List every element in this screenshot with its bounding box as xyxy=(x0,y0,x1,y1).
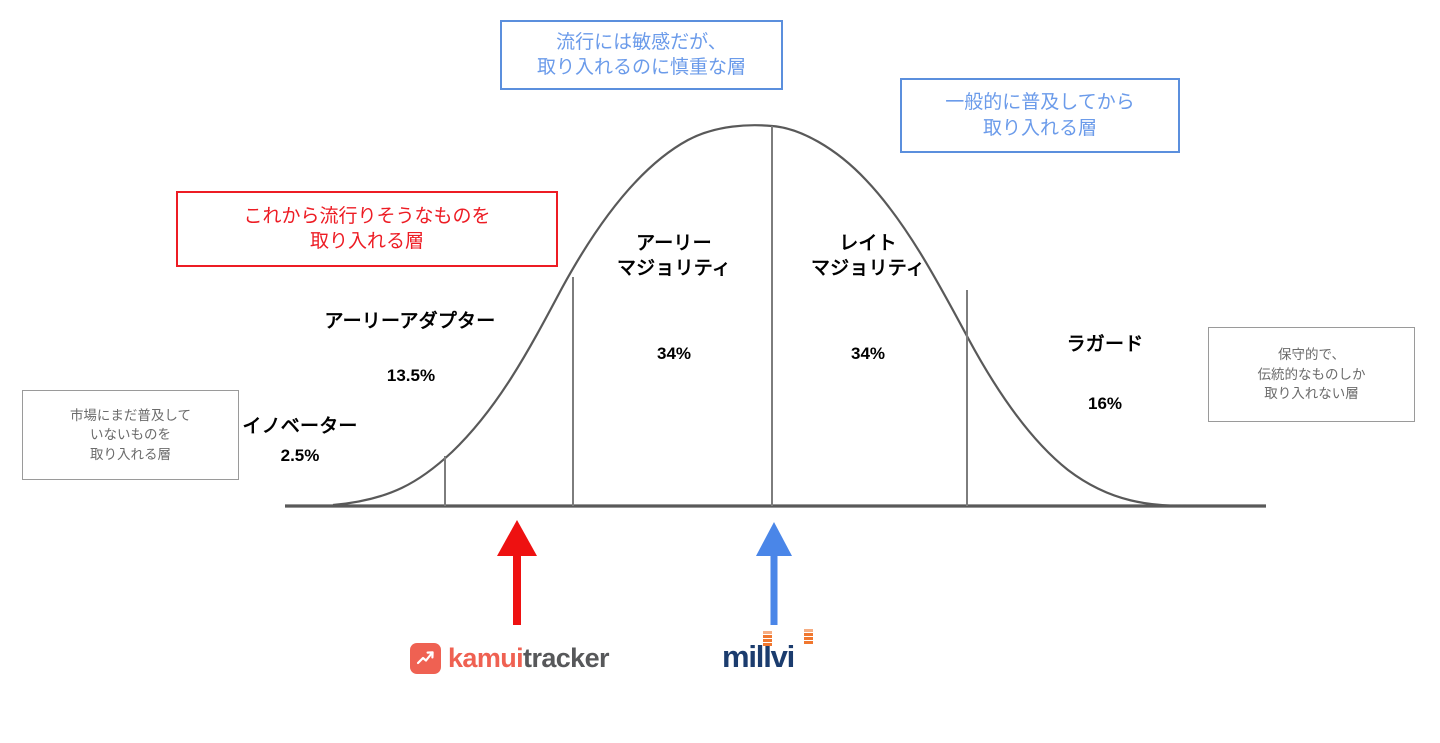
chart-arrow-icon xyxy=(410,643,441,674)
millvi-marker-arrow xyxy=(756,522,792,625)
segment-label-early-adopters: アーリーアダプター xyxy=(280,310,540,335)
millvi-accent-bars-left xyxy=(763,631,772,646)
segment-label-laggards: ラガード xyxy=(1020,333,1190,358)
callout-early-adopters: これから流行りそうなものを 取り入れる層 xyxy=(176,191,558,267)
segment-label-early-majority: アーリー マジョリティ xyxy=(590,232,758,281)
millvi-accent-bars-right xyxy=(804,629,813,644)
segment-label-late-majority: レイト マジョリティ xyxy=(784,232,952,281)
segment-percent-early-majority: 34% xyxy=(590,343,758,365)
kamuitracker-logo: kamuitracker xyxy=(410,643,609,674)
segment-percent-laggards: 16% xyxy=(1020,393,1190,415)
callout-innovators: 市場にまだ普及して いないものを 取り入れる層 xyxy=(22,390,239,480)
callout-laggards: 保守的で、 伝統的なものしか 取り入れない層 xyxy=(1208,327,1415,422)
callout-late-majority: 一般的に普及してから 取り入れる層 xyxy=(900,78,1180,153)
millvi-wordmark: millvi xyxy=(722,639,794,674)
callout-early-majority: 流行には敏感だが、 取り入れるのに慎重な層 xyxy=(500,20,783,90)
millvi-logo: millvi xyxy=(722,641,794,672)
kamuitracker-marker-arrow xyxy=(497,520,537,625)
kamuitracker-wordmark-part2: tracker xyxy=(523,643,609,673)
segment-percent-early-adopters: 13.5% xyxy=(316,365,506,387)
segment-percent-late-majority: 34% xyxy=(784,343,952,365)
kamuitracker-wordmark-part1: kamui xyxy=(448,643,523,673)
diagram-canvas: イノベーター 2.5% アーリーアダプター 13.5% アーリー マジョリティ … xyxy=(0,0,1440,743)
